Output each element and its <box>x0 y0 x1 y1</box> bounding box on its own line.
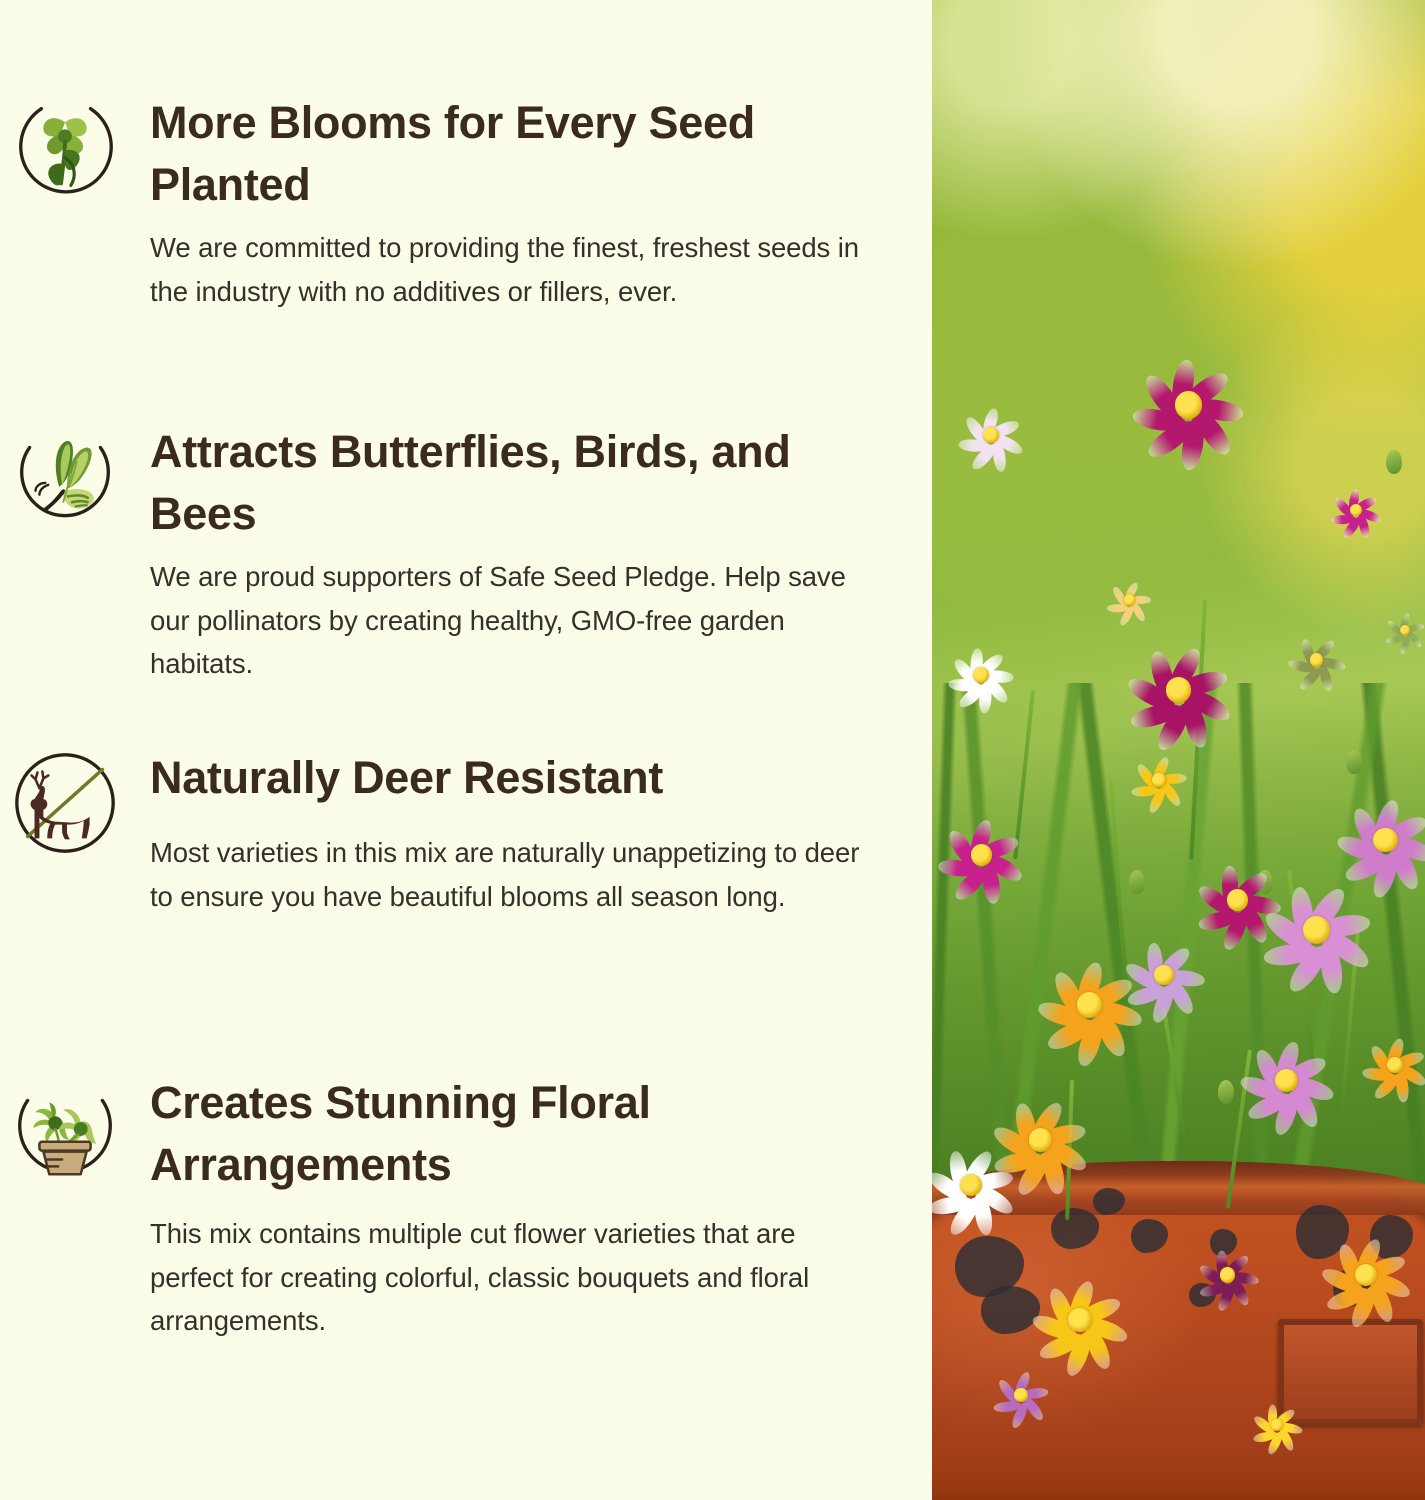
feature-title: Creates Stunning Floral Arrangements <box>150 1072 872 1196</box>
cosmos-flower <box>1329 483 1383 537</box>
cosmos-flower <box>935 809 1027 901</box>
cosmos-flower <box>1105 576 1153 624</box>
cosmos-flower <box>946 640 1016 710</box>
flower-bud <box>1129 870 1145 894</box>
feature-text: Naturally Deer Resistant Most varieties … <box>124 747 932 918</box>
flower-bud <box>1386 450 1402 474</box>
cosmos-flower <box>1287 630 1347 690</box>
cosmos-flower <box>1195 1242 1261 1308</box>
cosmos-flower <box>988 1088 1092 1192</box>
feature-text: Creates Stunning Floral Arrangements Thi… <box>124 1072 932 1343</box>
flower-bud <box>1346 750 1362 774</box>
feature-item: More Blooms for Every Seed Planted We ar… <box>0 92 932 313</box>
cosmos-flower <box>991 1365 1051 1425</box>
cosmos-flower <box>1129 346 1247 464</box>
product-feature-panel: More Blooms for Every Seed Planted We ar… <box>0 0 1425 1500</box>
feature-list: More Blooms for Every Seed Planted We ar… <box>0 0 932 1500</box>
cosmos-flower <box>1029 1269 1131 1371</box>
cosmos-flower <box>1257 870 1377 990</box>
cosmos-flower <box>1318 1227 1414 1323</box>
feature-title: Attracts Butterflies, Birds, and Bees <box>150 421 872 545</box>
feature-description: Most varieties in this mix are naturally… <box>150 831 872 918</box>
wildflower-bucket-photo <box>932 0 1425 1500</box>
feature-text: More Blooms for Every Seed Planted We ar… <box>124 92 932 313</box>
deer-resistant-no-deer-icon <box>6 747 124 859</box>
feature-description: We are proud supporters of Safe Seed Ple… <box>150 555 872 685</box>
cosmos-flower <box>956 400 1026 470</box>
feature-item: Naturally Deer Resistant Most varieties … <box>0 747 932 918</box>
cosmos-flower <box>1129 750 1189 810</box>
feature-description: This mix contains multiple cut flower va… <box>150 1212 872 1342</box>
feature-title: Naturally Deer Resistant <box>150 747 872 809</box>
flower-in-circle-icon <box>6 92 124 204</box>
flower-bud <box>1218 1080 1234 1104</box>
cosmos-flower <box>1035 950 1145 1060</box>
feature-item: Creates Stunning Floral Arrangements Thi… <box>0 1072 932 1343</box>
feature-description: We are committed to providing the finest… <box>150 226 872 313</box>
cosmos-flower <box>1360 1030 1425 1100</box>
feature-item: Attracts Butterflies, Birds, and Bees We… <box>0 421 932 686</box>
feature-title: More Blooms for Every Seed Planted <box>150 92 872 216</box>
feature-text: Attracts Butterflies, Birds, and Bees We… <box>124 421 932 686</box>
cosmos-flower <box>1123 634 1235 746</box>
cosmos-flower <box>1383 608 1425 652</box>
potted-plant-in-circle-icon <box>6 1072 124 1184</box>
butterfly-in-circle-icon <box>6 421 124 533</box>
cosmos-flower <box>1250 1398 1304 1452</box>
cosmos-flower <box>1237 1030 1337 1130</box>
